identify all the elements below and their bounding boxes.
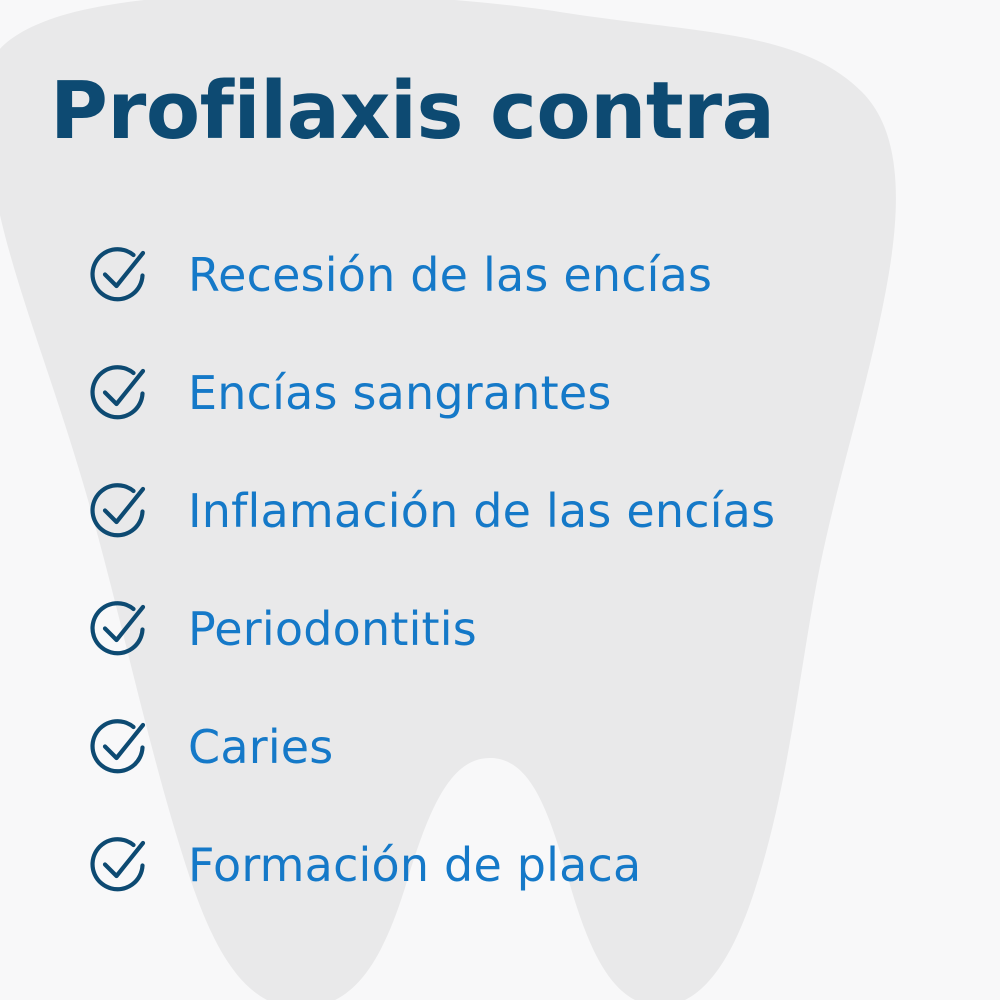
check-circle-icon <box>84 477 152 545</box>
benefit-list: Recesión de las encías Encías sangrantes… <box>0 233 1000 941</box>
check-circle-icon <box>84 713 152 781</box>
list-item: Encías sangrantes <box>0 351 1000 435</box>
page-title: Profilaxis contra <box>50 72 774 151</box>
check-circle-icon <box>84 359 152 427</box>
list-item-label: Caries <box>188 723 333 771</box>
list-item: Formación de placa <box>0 823 1000 907</box>
list-item-label: Formación de placa <box>188 841 641 889</box>
list-item-label: Encías sangrantes <box>188 369 612 417</box>
list-item: Periodontitis <box>0 587 1000 671</box>
check-circle-icon <box>84 241 152 309</box>
list-item: Inflamación de las encías <box>0 469 1000 553</box>
list-item-label: Recesión de las encías <box>188 251 712 299</box>
list-item: Recesión de las encías <box>0 233 1000 317</box>
list-item-label: Periodontitis <box>188 605 477 653</box>
check-circle-icon <box>84 595 152 663</box>
poster-canvas: Profilaxis contra Recesión de las encías… <box>0 0 1000 1000</box>
list-item-label: Inflamación de las encías <box>188 487 775 535</box>
check-circle-icon <box>84 831 152 899</box>
list-item: Caries <box>0 705 1000 789</box>
